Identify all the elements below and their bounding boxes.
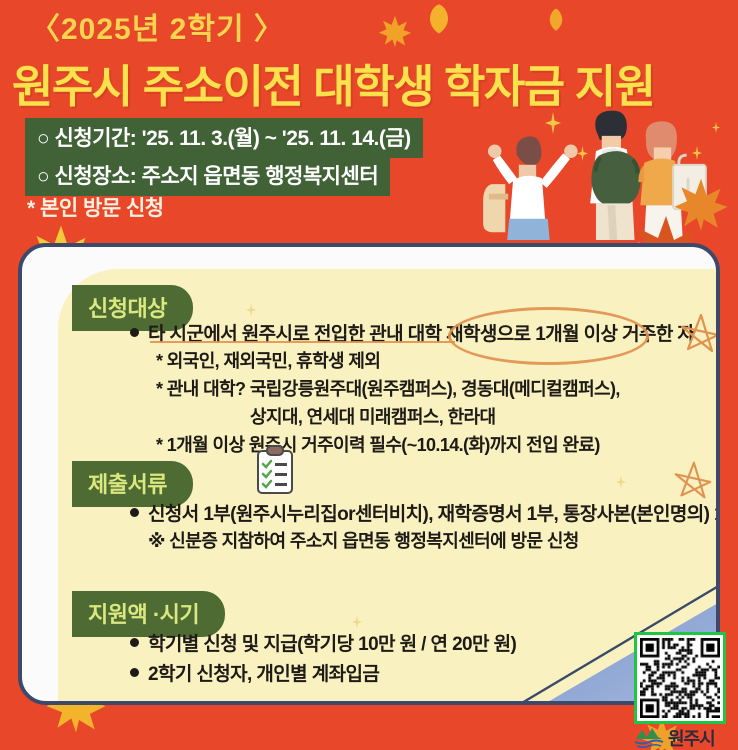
bullet-dot xyxy=(130,508,139,517)
eligibility-line-4: 상지대, 연세대 미래캠퍼스, 한라대 xyxy=(250,403,495,429)
ginkgo-leaf-icon xyxy=(428,4,450,34)
amount-line-1: 학기별 신청 및 지급(학기당 10만 원 / 연 20만 원) xyxy=(148,629,516,656)
bullet-dot xyxy=(130,668,139,677)
sparkle-icon xyxy=(352,615,362,629)
pen-ellipse-annotation xyxy=(448,307,649,365)
mountain-wave-icon xyxy=(634,726,664,748)
pen-underline-annotation xyxy=(150,341,455,343)
info-bar-location: ○ 신청장소: 주소지 읍면동 행정복지센터 xyxy=(25,156,390,196)
clipboard-check-icon xyxy=(254,445,296,495)
city-name-label: 원주시 xyxy=(668,725,715,750)
poster-note: * 본인 방문 신청 xyxy=(27,192,164,222)
amount-line-2: 2학기 신청자, 개인별 계좌입금 xyxy=(148,659,379,686)
poster-header: 〈2025년 2학기 〉 원주시 주소이전 대학생 학자금 지원 ○ 신청기간:… xyxy=(0,0,738,240)
hand-drawn-star-icon xyxy=(668,457,716,505)
bullet-dot xyxy=(130,328,139,337)
wonju-city-logo: 원주시 xyxy=(634,726,734,750)
content-card-inner: 신청대상 타 시군에서 원주시로 전입한 관내 대학 재학생으로 1개월 이상 … xyxy=(58,269,720,705)
eligibility-line-5: * 1개월 이상 원주시 거주이력 필수(~10.14.(화)까지 전입 완료) xyxy=(156,431,600,457)
sparkle-icon xyxy=(246,303,256,317)
bullet-dot xyxy=(130,638,139,647)
poster-root: 〈2025년 2학기 〉 원주시 주소이전 대학생 학자금 지원 ○ 신청기간:… xyxy=(0,0,738,750)
info-bar-period: ○ 신청기간: '25. 11. 3.(월) ~ '25. 11. 14.(금) xyxy=(25,118,423,158)
students-illustration xyxy=(470,105,720,240)
ginkgo-leaf-icon xyxy=(546,8,566,32)
qr-code[interactable] xyxy=(634,632,726,724)
documents-line-1: 신청서 1부(원주시누리집or센터비치), 재학증명서 1부, 통장사본(본인명… xyxy=(148,499,720,526)
sparkle-icon xyxy=(616,475,626,489)
eligibility-line-3: * 관내 대학? 국립강릉원주대(원주캠퍼스), 경동대(메디컬캠퍼스), xyxy=(156,375,620,401)
documents-line-2: ※ 신분증 지참하여 주소지 읍면동 행정복지센터에 방문 신청 xyxy=(148,527,579,553)
maple-leaf-icon xyxy=(378,14,412,48)
poster-eyebrow: 〈2025년 2학기 〉 xyxy=(30,4,285,48)
content-card: 신청대상 타 시군에서 원주시로 전입한 관내 대학 재학생으로 1개월 이상 … xyxy=(18,243,720,705)
eligibility-line-2: * 외국인, 재외국민, 휴학생 제외 xyxy=(156,347,380,373)
